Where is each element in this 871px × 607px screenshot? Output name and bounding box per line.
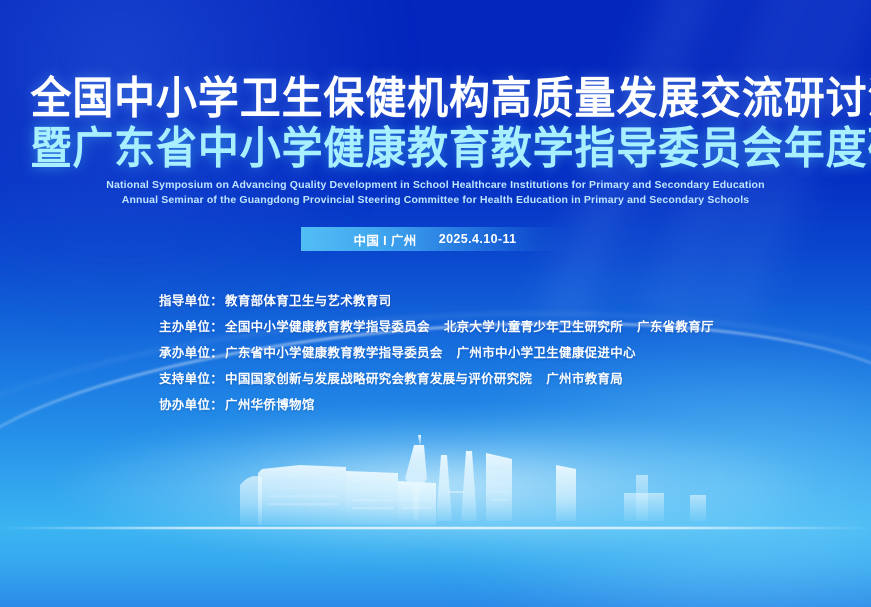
organization-items: 全国中小学健康教育教学指导委员会北京大学儿童青少年卫生研究所广东省教育厅 xyxy=(225,314,714,340)
organization-item: 广东省教育厅 xyxy=(637,314,714,340)
date-label: 2025.4.10-11 xyxy=(439,232,517,246)
poster-subtitle: National Symposium on Advancing Quality … xyxy=(0,178,871,208)
horizon-glow xyxy=(56,411,816,561)
subtitle-line-primary: National Symposium on Advancing Quality … xyxy=(0,178,871,193)
location-date-banner: 中国 I 广州 2025.4.10-11 xyxy=(301,227,569,251)
organization-label: 支持单位： xyxy=(159,366,223,392)
school-building-group xyxy=(240,465,436,525)
horizon-line xyxy=(0,527,871,529)
organization-label: 承办单位： xyxy=(159,340,223,366)
organization-item: 中国国家创新与发展战略研究会教育发展与评价研究院 xyxy=(225,366,532,392)
organization-item: 教育部体育卫生与艺术教育司 xyxy=(225,288,391,314)
organization-item: 广州市中小学卫生健康促进中心 xyxy=(457,340,636,366)
title-line-secondary: 暨广东省中小学健康教育教学指导委员会年度研讨活动 xyxy=(30,124,840,174)
organization-item: 广东省中小学健康教育教学指导委员会 xyxy=(225,340,443,366)
distant-buildings xyxy=(624,475,706,521)
organization-item: 全国中小学健康教育教学指导委员会 xyxy=(225,314,430,340)
poster-title: 全国中小学卫生保健机构高质量发展交流研讨活动 暨广东省中小学健康教育教学指导委员… xyxy=(0,74,871,174)
conference-poster: 全国中小学卫生保健机构高质量发展交流研讨活动 暨广东省中小学健康教育教学指导委员… xyxy=(0,0,871,607)
organization-row: 主办单位：全国中小学健康教育教学指导委员会北京大学儿童青少年卫生研究所广东省教育… xyxy=(159,314,819,340)
organization-row: 协办单位：广州华侨博物馆 xyxy=(159,392,819,418)
organization-item: 北京大学儿童青少年卫生研究所 xyxy=(444,314,623,340)
organization-items: 中国国家创新与发展战略研究会教育发展与评价研究院广州市教育局 xyxy=(225,366,623,392)
organization-item: 广州市教育局 xyxy=(546,366,623,392)
guangzhou-towers xyxy=(436,451,576,521)
organization-row: 指导单位：教育部体育卫生与艺术教育司 xyxy=(159,288,819,314)
title-line-primary: 全国中小学卫生保健机构高质量发展交流研讨活动 xyxy=(30,74,840,124)
organization-label: 指导单位： xyxy=(159,288,223,314)
location-label: 中国 I 广州 xyxy=(353,230,416,249)
guangzhou-skyline xyxy=(0,429,871,539)
canton-tower xyxy=(405,435,427,521)
organization-label: 协办单位： xyxy=(159,392,223,418)
organization-items: 广东省中小学健康教育教学指导委员会广州市中小学卫生健康促进中心 xyxy=(225,340,636,366)
organization-list: 指导单位：教育部体育卫生与艺术教育司主办单位：全国中小学健康教育教学指导委员会北… xyxy=(159,288,819,418)
organization-row: 支持单位：中国国家创新与发展战略研究会教育发展与评价研究院广州市教育局 xyxy=(159,366,819,392)
subtitle-line-secondary: Annual Seminar of the Guangdong Provinci… xyxy=(0,193,871,208)
organization-label: 主办单位： xyxy=(159,314,223,340)
organization-item: 广州华侨博物馆 xyxy=(225,392,315,418)
organization-items: 教育部体育卫生与艺术教育司 xyxy=(225,288,391,314)
organization-row: 承办单位：广东省中小学健康教育教学指导委员会广州市中小学卫生健康促进中心 xyxy=(159,340,819,366)
organization-items: 广州华侨博物馆 xyxy=(225,392,315,418)
